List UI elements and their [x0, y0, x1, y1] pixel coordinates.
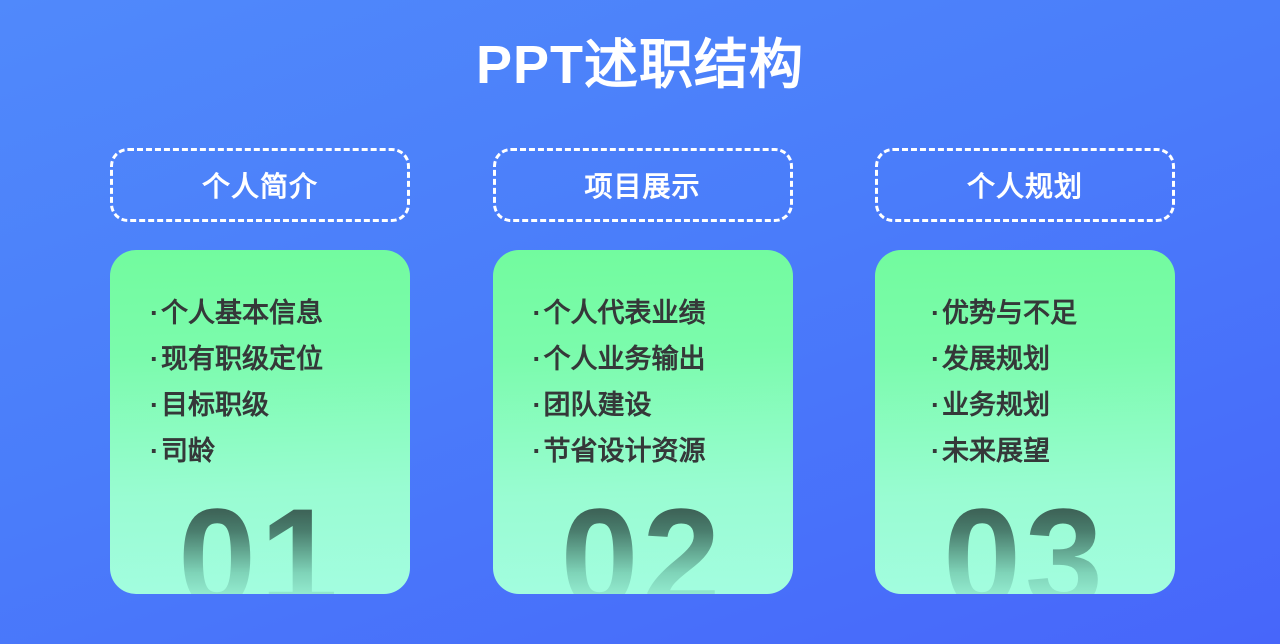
bullet-icon: ·	[931, 382, 942, 428]
section-pill-label-1: 个人简介	[202, 165, 318, 205]
list-item-label: 节省设计资源	[544, 436, 706, 466]
card-number-watermark-3: 03	[875, 488, 1175, 594]
structure-column-3: 个人规划 ·优势与不足 ·发展规划 ·业务规划 ·未来展望 03	[875, 148, 1175, 594]
bullet-icon: ·	[150, 290, 161, 336]
presentation-slide: PPT述职结构 个人简介 ·个人基本信息 ·现有职级定位 ·目标职级 ·司龄 0…	[0, 0, 1280, 644]
bullet-icon: ·	[533, 290, 544, 336]
bullet-icon: ·	[931, 428, 942, 474]
list-item: ·个人代表业绩	[533, 290, 793, 336]
list-item-label: 未来展望	[942, 436, 1050, 466]
section-item-list-2: ·个人代表业绩 ·个人业务输出 ·团队建设 ·节省设计资源	[493, 250, 793, 474]
list-item: ·节省设计资源	[533, 428, 793, 474]
list-item-label: 个人业务输出	[544, 344, 706, 374]
section-pill-label-2: 项目展示	[584, 165, 700, 205]
list-item: ·发展规划	[931, 336, 1175, 382]
list-item-label: 个人基本信息	[161, 298, 323, 328]
structure-column-2: 项目展示 ·个人代表业绩 ·个人业务输出 ·团队建设 ·节省设计资源 02	[493, 148, 793, 594]
list-item-label: 现有职级定位	[161, 344, 323, 374]
page-title: PPT述职结构	[0, 34, 1280, 96]
section-card-1[interactable]: ·个人基本信息 ·现有职级定位 ·目标职级 ·司龄 01	[110, 250, 410, 594]
list-item: ·司龄	[150, 428, 410, 474]
list-item: ·业务规划	[931, 382, 1175, 428]
list-item: ·现有职级定位	[150, 336, 410, 382]
list-item: ·目标职级	[150, 382, 410, 428]
section-card-2[interactable]: ·个人代表业绩 ·个人业务输出 ·团队建设 ·节省设计资源 02	[493, 250, 793, 594]
section-item-list-3: ·优势与不足 ·发展规划 ·业务规划 ·未来展望	[875, 250, 1175, 474]
list-item-label: 团队建设	[544, 390, 652, 420]
card-number-watermark-1: 01	[110, 488, 410, 594]
list-item-label: 个人代表业绩	[544, 298, 706, 328]
section-card-3[interactable]: ·优势与不足 ·发展规划 ·业务规划 ·未来展望 03	[875, 250, 1175, 594]
section-pill-3[interactable]: 个人规划	[875, 148, 1175, 222]
list-item-label: 目标职级	[161, 390, 269, 420]
section-pill-1[interactable]: 个人简介	[110, 148, 410, 222]
list-item-label: 发展规划	[942, 344, 1050, 374]
bullet-icon: ·	[150, 382, 161, 428]
list-item-label: 司龄	[161, 436, 215, 466]
bullet-icon: ·	[931, 290, 942, 336]
section-pill-label-3: 个人规划	[967, 165, 1083, 205]
list-item-label: 业务规划	[942, 390, 1050, 420]
card-number-watermark-2: 02	[493, 488, 793, 594]
structure-columns: 个人简介 ·个人基本信息 ·现有职级定位 ·目标职级 ·司龄 01 项目展示 ·…	[110, 148, 1175, 594]
bullet-icon: ·	[931, 336, 942, 382]
structure-column-1: 个人简介 ·个人基本信息 ·现有职级定位 ·目标职级 ·司龄 01	[110, 148, 410, 594]
list-item: ·未来展望	[931, 428, 1175, 474]
section-item-list-1: ·个人基本信息 ·现有职级定位 ·目标职级 ·司龄	[110, 250, 410, 474]
list-item: ·优势与不足	[931, 290, 1175, 336]
bullet-icon: ·	[150, 336, 161, 382]
list-item: ·团队建设	[533, 382, 793, 428]
bullet-icon: ·	[533, 336, 544, 382]
list-item: ·个人业务输出	[533, 336, 793, 382]
bullet-icon: ·	[150, 428, 161, 474]
list-item: ·个人基本信息	[150, 290, 410, 336]
bullet-icon: ·	[533, 382, 544, 428]
bullet-icon: ·	[533, 428, 544, 474]
list-item-label: 优势与不足	[942, 298, 1077, 328]
section-pill-2[interactable]: 项目展示	[493, 148, 793, 222]
